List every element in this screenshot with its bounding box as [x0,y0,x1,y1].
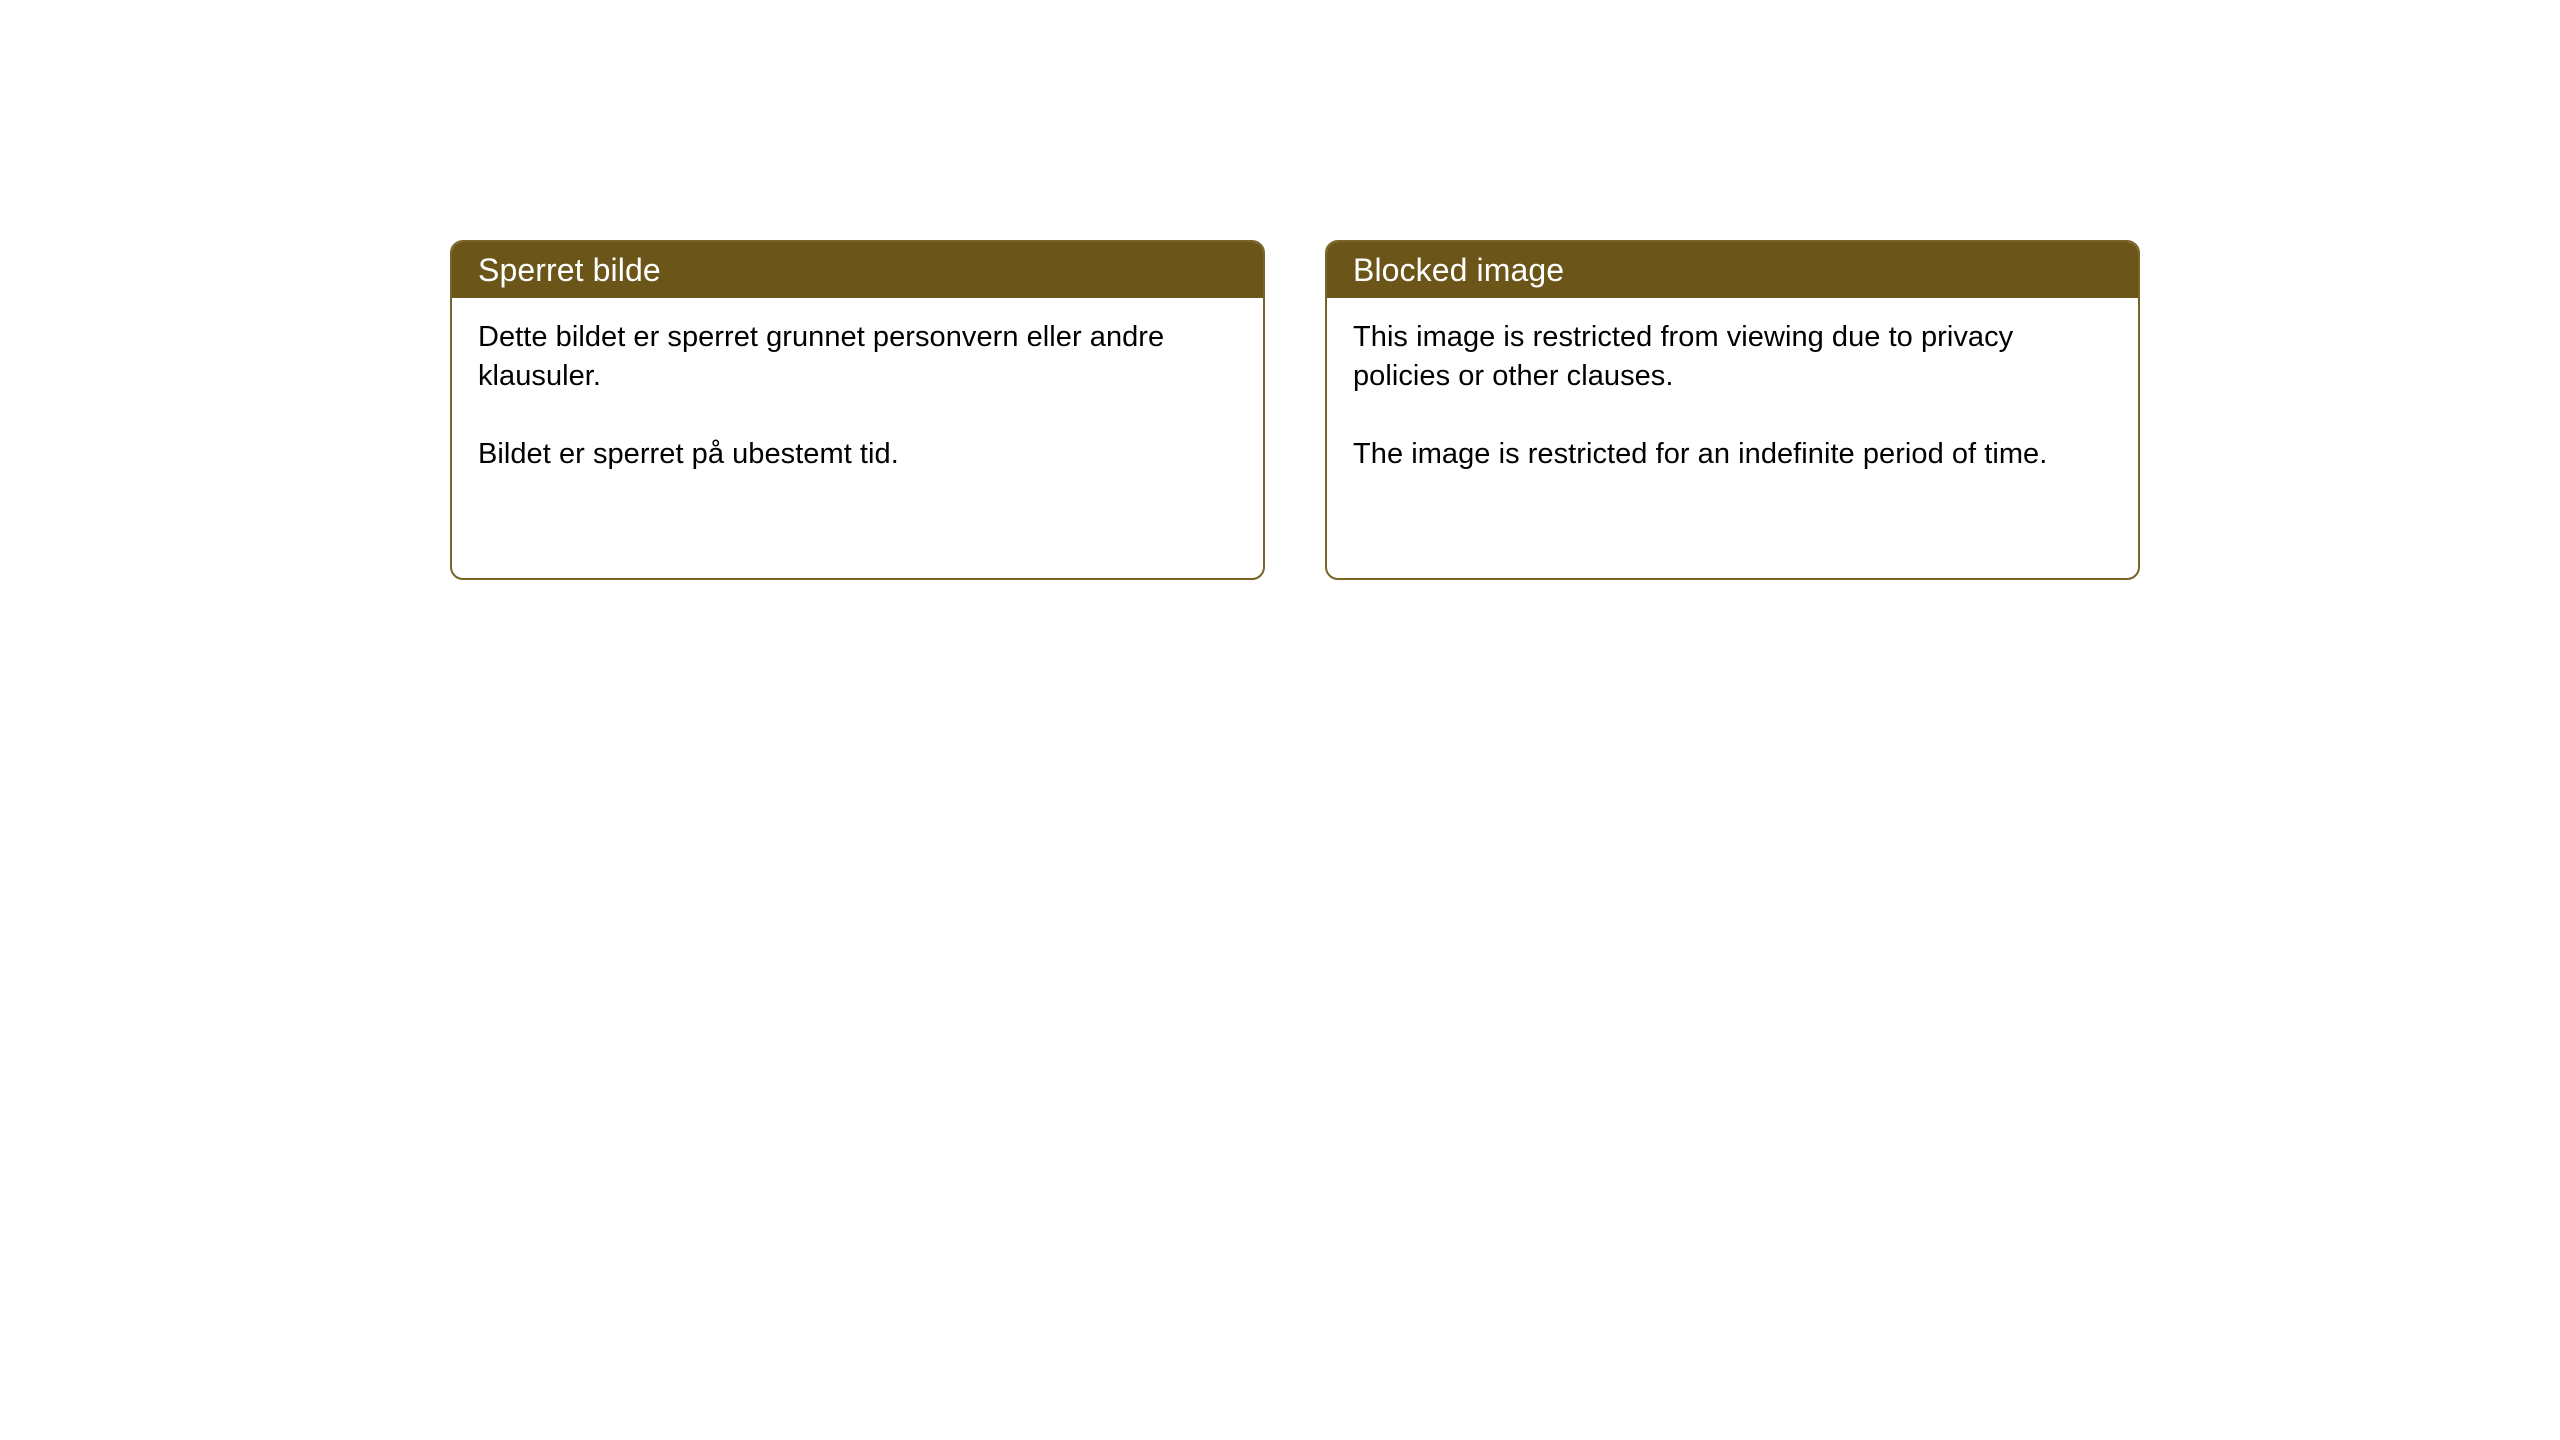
card-paragraph-reason-norwegian: Dette bildet er sperret grunnet personve… [478,318,1237,396]
card-header-norwegian: Sperret bilde [452,242,1263,298]
card-paragraph-duration-english: The image is restricted for an indefinit… [1353,435,2112,474]
blocked-image-card-norwegian: Sperret bilde Dette bildet er sperret gr… [450,240,1265,580]
blocked-image-card-english: Blocked image This image is restricted f… [1325,240,2140,580]
card-header-english: Blocked image [1327,242,2138,298]
card-paragraph-duration-norwegian: Bildet er sperret på ubestemt tid. [478,435,1237,474]
card-title-english: Blocked image [1353,254,1564,286]
card-paragraph-reason-english: This image is restricted from viewing du… [1353,318,2112,396]
card-body-english: This image is restricted from viewing du… [1327,298,2138,578]
card-body-norwegian: Dette bildet er sperret grunnet personve… [452,298,1263,578]
card-title-norwegian: Sperret bilde [478,254,661,286]
blocked-image-notice-group: Sperret bilde Dette bildet er sperret gr… [450,240,2140,580]
